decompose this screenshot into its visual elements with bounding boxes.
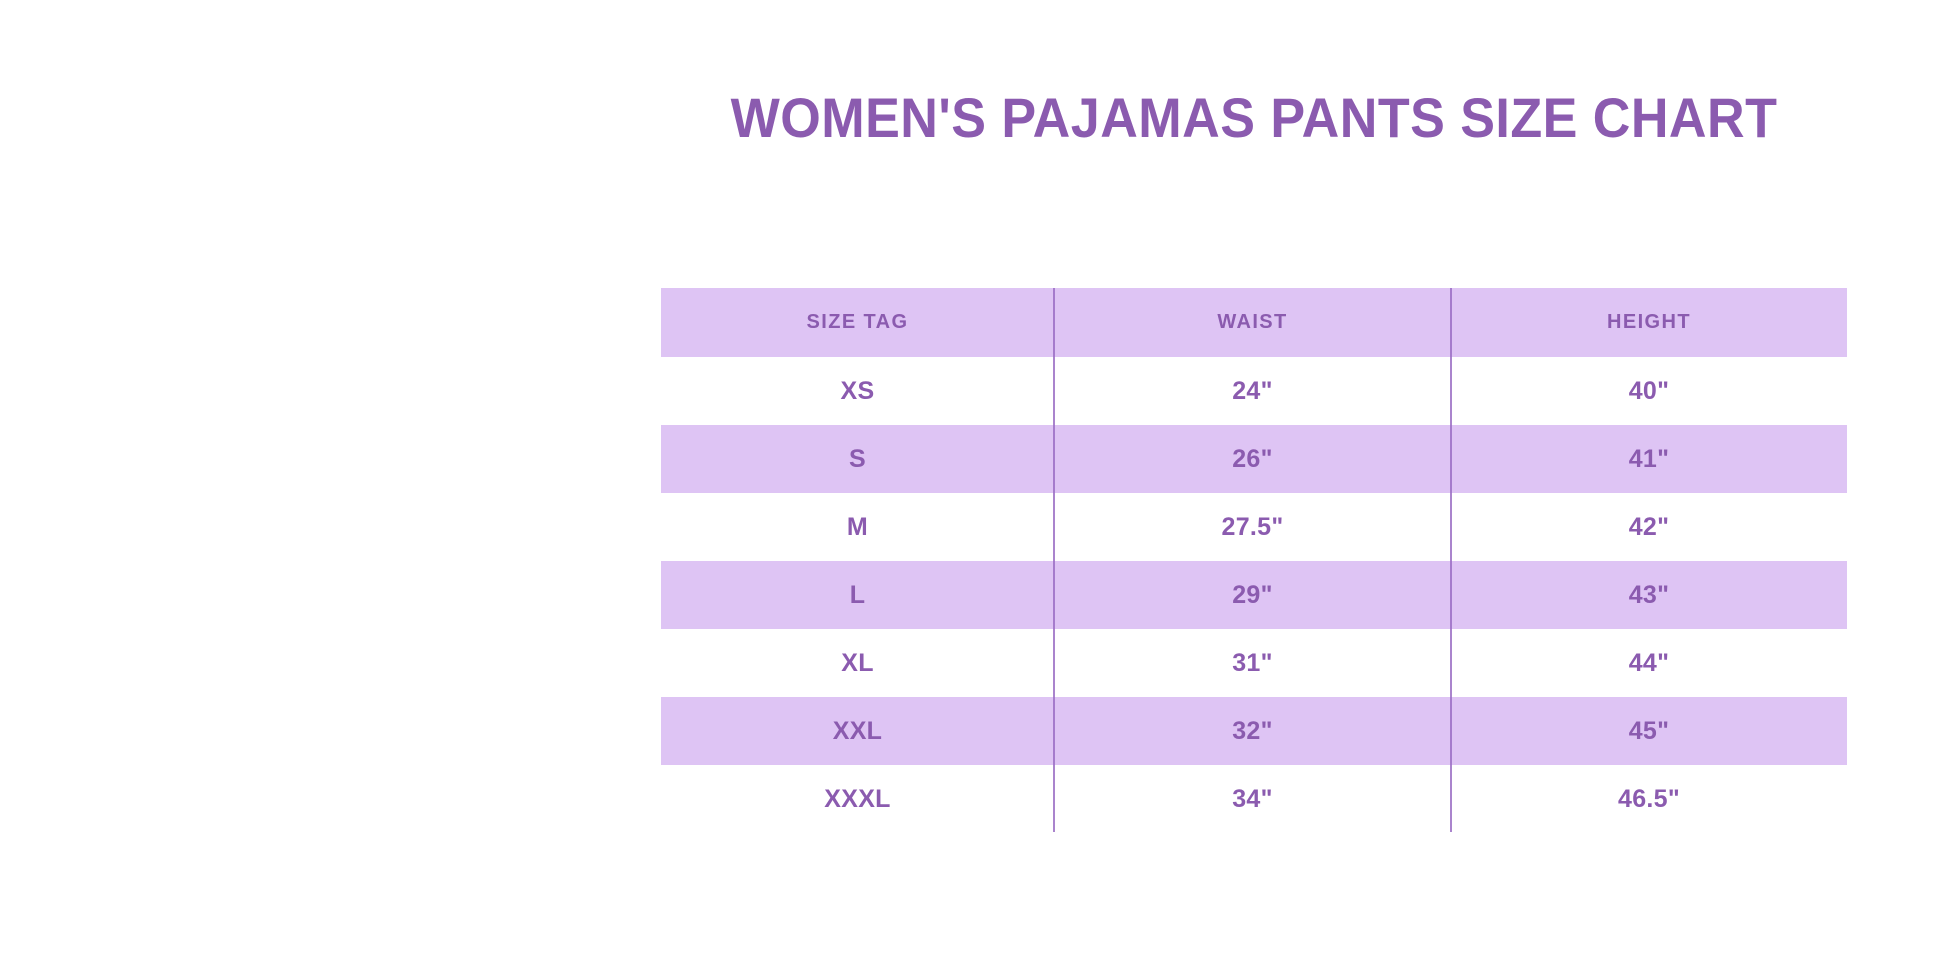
cell-size-tag: XXL bbox=[661, 697, 1054, 765]
cell-height: 40" bbox=[1451, 357, 1847, 425]
table-row: M 27.5" 42" bbox=[661, 493, 1847, 561]
cell-waist: 27.5" bbox=[1054, 493, 1451, 561]
table-row: XL 31" 44" bbox=[661, 629, 1847, 697]
cell-height: 41" bbox=[1451, 425, 1847, 493]
cell-waist: 29" bbox=[1054, 561, 1451, 629]
cell-height: 46.5" bbox=[1451, 765, 1847, 833]
cell-size-tag: M bbox=[661, 493, 1054, 561]
column-divider-2 bbox=[1450, 288, 1452, 832]
column-divider-1 bbox=[1053, 288, 1055, 832]
table-row: XS 24" 40" bbox=[661, 357, 1847, 425]
page-title: WOMEN'S PAJAMAS PANTS SIZE CHART bbox=[703, 86, 1806, 150]
cell-waist: 32" bbox=[1054, 697, 1451, 765]
table-row: L 29" 43" bbox=[661, 561, 1847, 629]
column-header-size-tag: SIZE TAG bbox=[661, 288, 1054, 357]
cell-size-tag: XL bbox=[661, 629, 1054, 697]
table-row: XXXL 34" 46.5" bbox=[661, 765, 1847, 833]
cell-waist: 24" bbox=[1054, 357, 1451, 425]
cell-size-tag: XXXL bbox=[661, 765, 1054, 833]
size-chart-table: SIZE TAG WAIST HEIGHT XS 24" 40" S 26" 4… bbox=[661, 288, 1847, 833]
table-header: SIZE TAG WAIST HEIGHT bbox=[661, 288, 1847, 357]
cell-height: 43" bbox=[1451, 561, 1847, 629]
cell-waist: 31" bbox=[1054, 629, 1451, 697]
cell-waist: 34" bbox=[1054, 765, 1451, 833]
cell-height: 45" bbox=[1451, 697, 1847, 765]
size-chart-page: WOMEN'S PAJAMAS PANTS SIZE CHART SIZE TA… bbox=[0, 0, 1946, 973]
table-row: S 26" 41" bbox=[661, 425, 1847, 493]
cell-size-tag: S bbox=[661, 425, 1054, 493]
cell-height: 42" bbox=[1451, 493, 1847, 561]
cell-waist: 26" bbox=[1054, 425, 1451, 493]
column-header-height: HEIGHT bbox=[1451, 288, 1847, 357]
column-header-waist: WAIST bbox=[1054, 288, 1451, 357]
cell-size-tag: L bbox=[661, 561, 1054, 629]
table-body: XS 24" 40" S 26" 41" M 27.5" 42" L 29" 4… bbox=[661, 357, 1847, 833]
table-header-row: SIZE TAG WAIST HEIGHT bbox=[661, 288, 1847, 357]
cell-height: 44" bbox=[1451, 629, 1847, 697]
table-row: XXL 32" 45" bbox=[661, 697, 1847, 765]
cell-size-tag: XS bbox=[661, 357, 1054, 425]
